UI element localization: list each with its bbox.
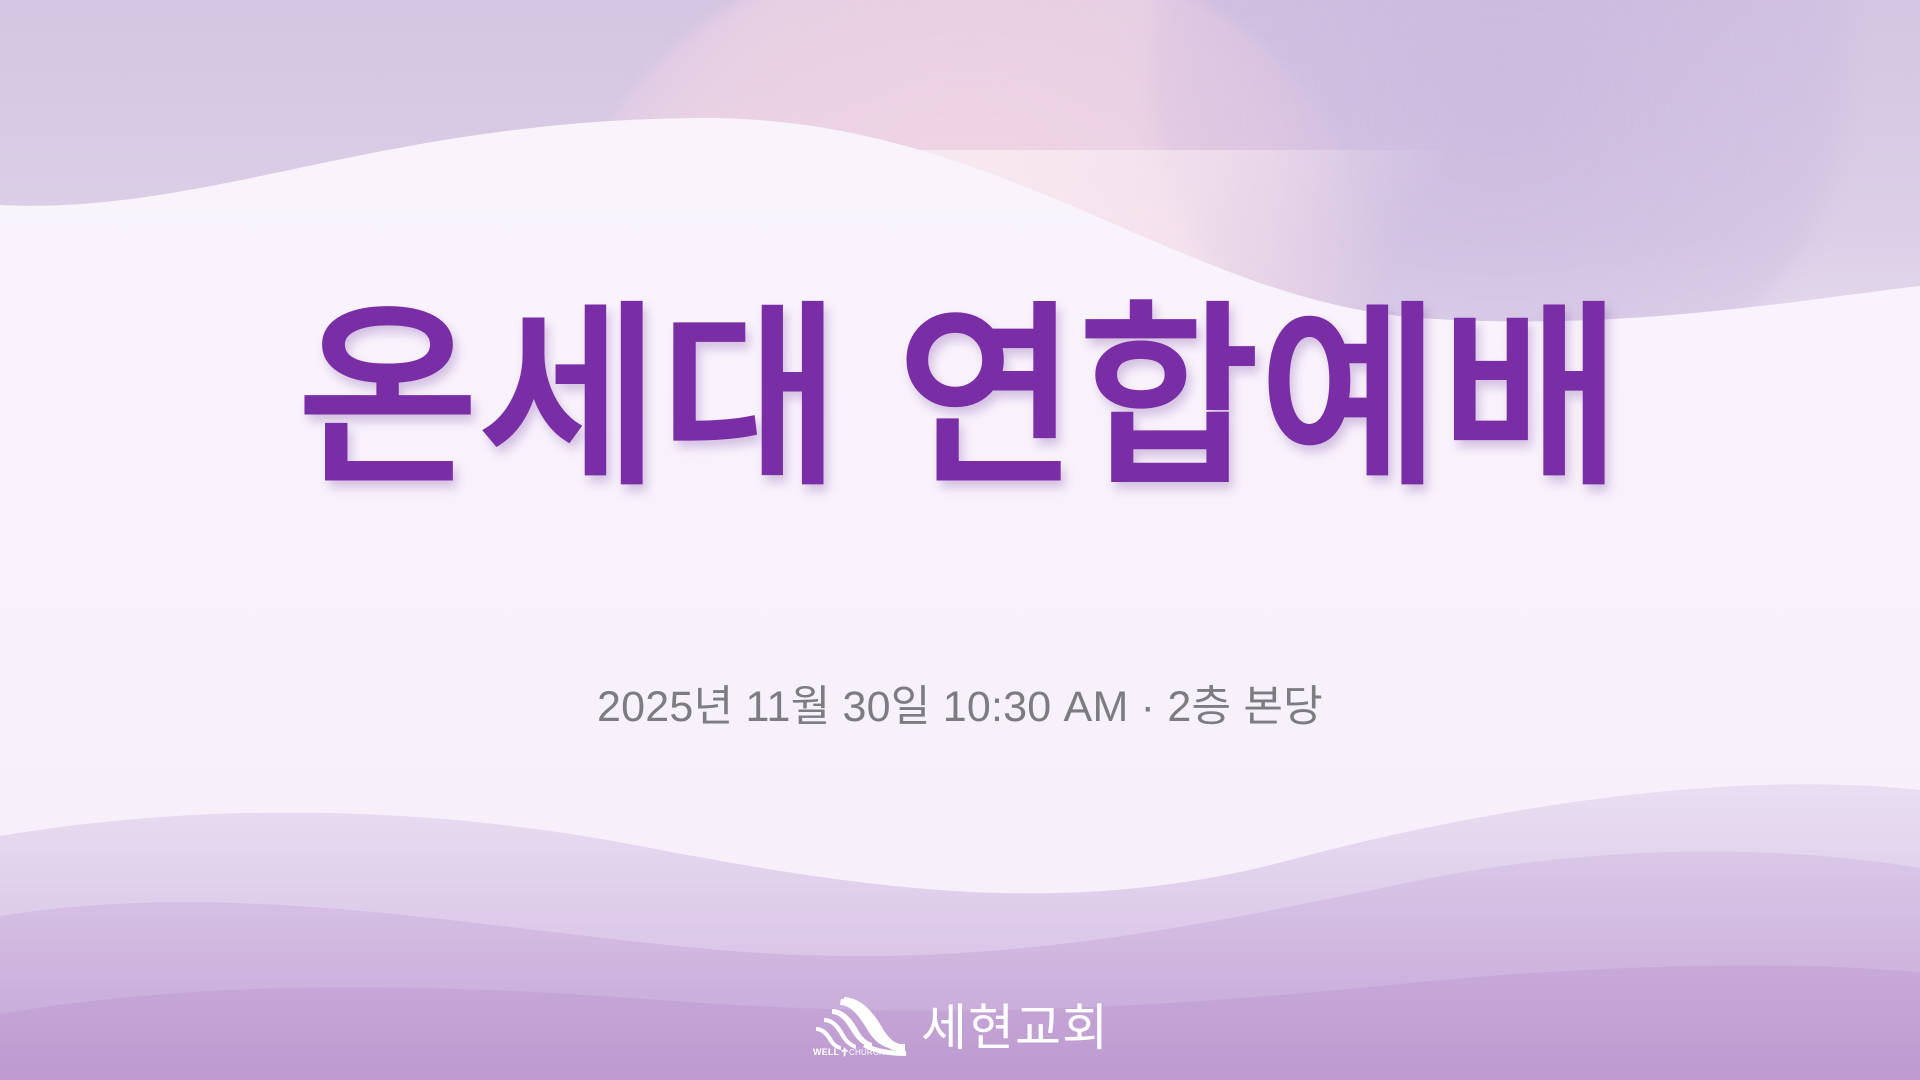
service-details-subtitle: 2025년 11월 30일 10:30 AM · 2층 본당 xyxy=(0,672,1920,734)
slide-content: 온세대 연합예배 2025년 11월 30일 10:30 AM · 2층 본당 xyxy=(0,0,1920,1080)
church-wordmark: 세현교회 xyxy=(921,1003,1109,1057)
well-church-wave-icon: WELL ✝ CHURCH xyxy=(811,991,907,1057)
svg-text:CHURCH: CHURCH xyxy=(849,1048,885,1057)
page-title: 온세대 연합예배 xyxy=(0,296,1920,502)
worship-slide: 온세대 연합예배 2025년 11월 30일 10:30 AM · 2층 본당 xyxy=(0,0,1920,1080)
church-logo-lockup: WELL ✝ CHURCH 세현교회 xyxy=(811,985,1109,1057)
svg-text:✝: ✝ xyxy=(840,1047,849,1057)
svg-text:WELL: WELL xyxy=(813,1047,840,1057)
